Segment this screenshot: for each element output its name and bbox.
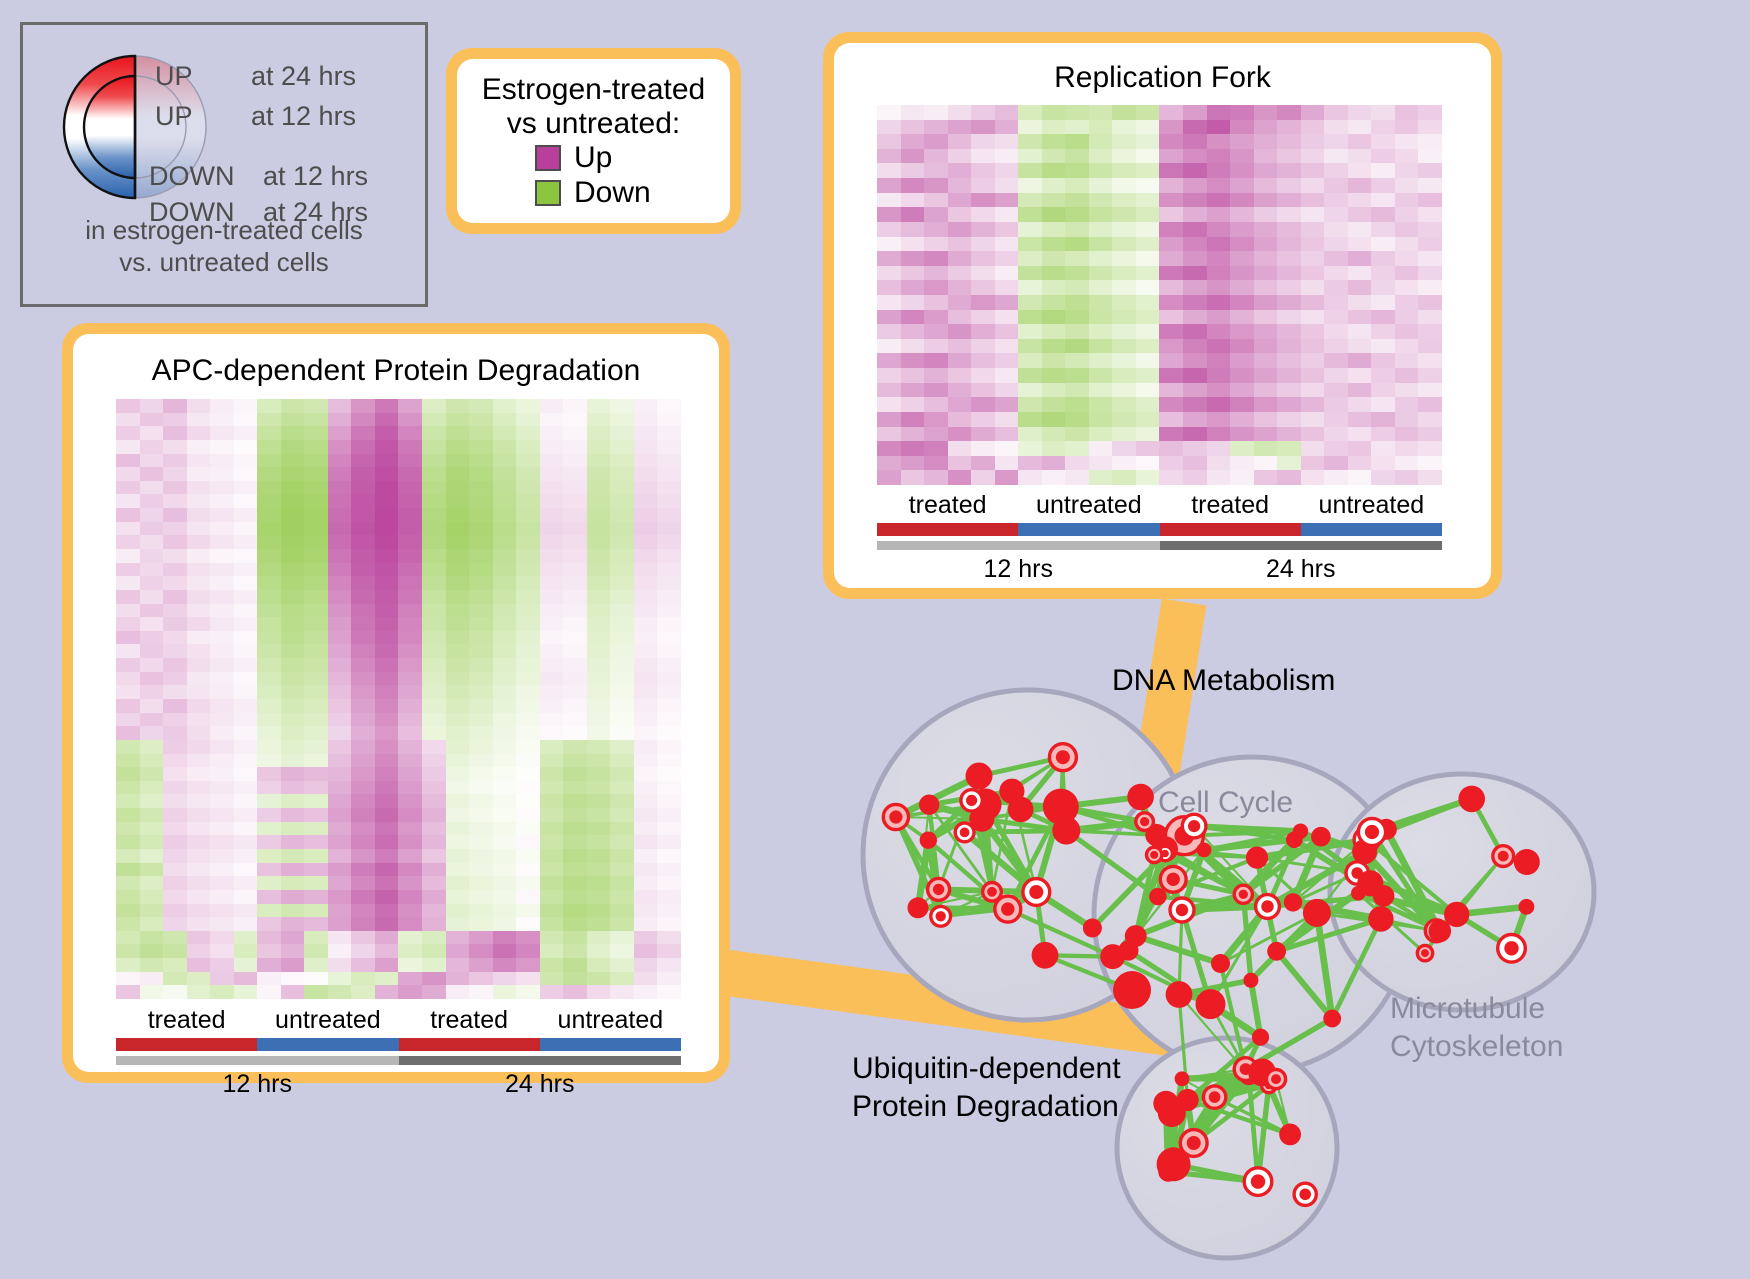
apc-bar-untreated-24 xyxy=(540,1038,681,1051)
network-node-core xyxy=(1498,851,1509,862)
network-node-core xyxy=(1421,949,1429,957)
pathway-network: DNA Metabolism Cell Cycle MicrotubuleCyt… xyxy=(790,610,1750,1279)
legend-label-up: Up xyxy=(574,141,612,175)
network-node-core xyxy=(889,810,902,823)
apc-time-bar xyxy=(116,1056,681,1065)
network-node-core xyxy=(1029,885,1043,899)
legend-label-down: Down xyxy=(574,176,651,210)
network-node-core xyxy=(1150,851,1158,859)
rf-bar-treated-24 xyxy=(1160,523,1301,536)
rf-time-label-12: 12 hrs xyxy=(877,555,1160,584)
network-node[interactable] xyxy=(1149,888,1166,905)
network-node-core xyxy=(936,911,946,921)
network-node[interactable] xyxy=(1032,942,1059,969)
network-node[interactable] xyxy=(1351,886,1366,901)
network-node-core xyxy=(1504,941,1518,955)
apc-group-bar xyxy=(116,1038,681,1051)
network-node[interactable] xyxy=(1113,971,1151,1009)
network-node[interactable] xyxy=(1311,827,1331,847)
rf-timebar-24hrs xyxy=(1160,541,1443,550)
network-node-core xyxy=(1365,825,1379,839)
network-node[interactable] xyxy=(908,897,929,918)
key-time-0: at 24 hrs xyxy=(251,61,356,92)
network-node[interactable] xyxy=(1197,843,1212,858)
network-node[interactable] xyxy=(1052,817,1080,845)
apc-timebar-24hrs xyxy=(399,1056,682,1065)
network-node-core xyxy=(1167,873,1180,886)
network-node[interactable] xyxy=(1158,1162,1178,1182)
network-node[interactable] xyxy=(1286,832,1303,849)
network-node[interactable] xyxy=(1267,942,1286,961)
network-node[interactable] xyxy=(1153,1091,1178,1116)
network-node[interactable] xyxy=(919,795,939,815)
network-node-core xyxy=(1239,890,1248,899)
rf-bar-untreated-24 xyxy=(1301,523,1442,536)
color-key-legend: UP at 24 hrs UP at 12 hrs DOWN at 12 hrs… xyxy=(20,22,428,307)
cluster-label-ubiquitin: Ubiquitin-dependentProtein Degradation xyxy=(852,1052,1121,1123)
apc-bar-untreated-12 xyxy=(257,1038,398,1051)
apc-group-label-3: untreated xyxy=(540,1006,681,1035)
network-node[interactable] xyxy=(1243,973,1258,988)
network-node[interactable] xyxy=(1368,906,1393,931)
network-node-core xyxy=(1176,904,1188,916)
apc-time-label-12: 12 hrs xyxy=(116,1070,399,1099)
network-node-core xyxy=(960,828,970,838)
network-node-core xyxy=(933,884,944,895)
network-node[interactable] xyxy=(1514,849,1540,875)
key-time-1: at 12 hrs xyxy=(251,101,356,132)
legend-item-up: Up xyxy=(535,141,730,175)
network-node[interactable] xyxy=(1519,899,1535,915)
apc-group-label-1: untreated xyxy=(257,1006,398,1035)
rf-group-labels: treated untreated treated untreated xyxy=(877,491,1442,520)
key-state-0: UP xyxy=(155,61,193,92)
network-node[interactable] xyxy=(1252,1029,1269,1046)
cluster-label-microtubule: MicrotubuleCytoskeleton xyxy=(1390,992,1563,1063)
rf-group-label-0: treated xyxy=(877,491,1018,520)
legend-swatch-up xyxy=(535,145,561,171)
apc-bar-treated-24 xyxy=(399,1038,540,1051)
network-node[interactable] xyxy=(1118,940,1138,960)
network-node[interactable] xyxy=(920,832,937,849)
network-node-core xyxy=(966,795,977,806)
network-node[interactable] xyxy=(1444,902,1469,927)
cluster-label-dna-metabolism: DNA Metabolism xyxy=(1112,664,1335,697)
estrogen-legend-panel: Estrogen-treated vs untreated: Up Down xyxy=(446,48,741,234)
network-node-core xyxy=(987,887,997,897)
apc-panel: APC-dependent Protein Degradation treate… xyxy=(62,323,730,1083)
network-node[interactable] xyxy=(1127,784,1154,811)
rf-bar-untreated-12 xyxy=(1018,523,1159,536)
rf-group-label-3: untreated xyxy=(1301,491,1442,520)
network-node-core xyxy=(1001,902,1014,915)
network-node-core xyxy=(1187,1136,1201,1150)
network-node[interactable] xyxy=(1211,954,1230,973)
key-state-1: UP xyxy=(155,101,193,132)
apc-heatmap xyxy=(116,399,681,999)
network-node[interactable] xyxy=(1196,989,1226,1019)
network-node-core xyxy=(1140,817,1149,826)
replication-fork-heatmap xyxy=(877,105,1442,485)
color-key-footer: in estrogen-treated cells vs. untreated … xyxy=(23,215,425,278)
rf-group-label-1: untreated xyxy=(1018,491,1159,520)
network-node[interactable] xyxy=(1166,981,1193,1008)
legend-swatch-down xyxy=(535,180,561,206)
apc-group-labels: treated untreated treated untreated xyxy=(116,1006,681,1035)
rf-time-label-24: 24 hrs xyxy=(1160,555,1443,584)
network-node[interactable] xyxy=(1279,1124,1301,1146)
network-node-core xyxy=(1271,1074,1281,1084)
apc-timebar-12hrs xyxy=(116,1056,399,1065)
network-node-core xyxy=(1209,1091,1221,1103)
apc-time-labels: 12 hrs 24 hrs xyxy=(116,1070,681,1099)
key-state-2: DOWN xyxy=(149,161,234,192)
rf-time-labels: 12 hrs 24 hrs xyxy=(877,555,1442,584)
legend-title-line1: Estrogen-treated xyxy=(457,73,730,107)
apc-bar-treated-12 xyxy=(116,1038,257,1051)
network-node[interactable] xyxy=(1323,1010,1341,1028)
network-node-core xyxy=(1251,1174,1265,1188)
replication-fork-panel: Replication Fork treated untreated treat… xyxy=(823,32,1502,599)
network-node[interactable] xyxy=(1303,899,1331,927)
network-node[interactable] xyxy=(1458,786,1485,813)
network-node[interactable] xyxy=(1175,1071,1190,1086)
network-node-core xyxy=(1299,1189,1311,1201)
apc-title: APC-dependent Protein Degradation xyxy=(73,354,719,388)
rf-bar-treated-12 xyxy=(877,523,1018,536)
network-node[interactable] xyxy=(1246,847,1268,869)
cluster-label-cell-cycle: Cell Cycle xyxy=(1158,786,1293,819)
network-node-core xyxy=(1056,750,1070,764)
rf-group-label-2: treated xyxy=(1160,491,1301,520)
color-key-footer-line2: vs. untreated cells xyxy=(23,247,425,279)
apc-group-label-0: treated xyxy=(116,1006,257,1035)
key-time-2: at 12 hrs xyxy=(263,161,368,192)
network-node[interactable] xyxy=(1083,919,1102,938)
rf-timebar-12hrs xyxy=(877,541,1160,550)
color-key-footer-line1: in estrogen-treated cells xyxy=(23,215,425,247)
network-node[interactable] xyxy=(1177,1089,1199,1111)
legend-title-line2: vs untreated: xyxy=(457,107,730,141)
apc-time-label-24: 24 hrs xyxy=(399,1070,682,1099)
network-node[interactable] xyxy=(1284,893,1302,911)
rf-time-bar xyxy=(877,541,1442,550)
legend-item-down: Down xyxy=(535,176,730,210)
network-node-core xyxy=(1261,900,1273,912)
apc-group-label-2: treated xyxy=(399,1006,540,1035)
network-node[interactable] xyxy=(1008,797,1034,823)
replication-fork-title: Replication Fork xyxy=(834,61,1491,95)
network-node-core xyxy=(1188,820,1200,832)
rf-group-bar xyxy=(877,523,1442,536)
network-node[interactable] xyxy=(966,763,993,790)
